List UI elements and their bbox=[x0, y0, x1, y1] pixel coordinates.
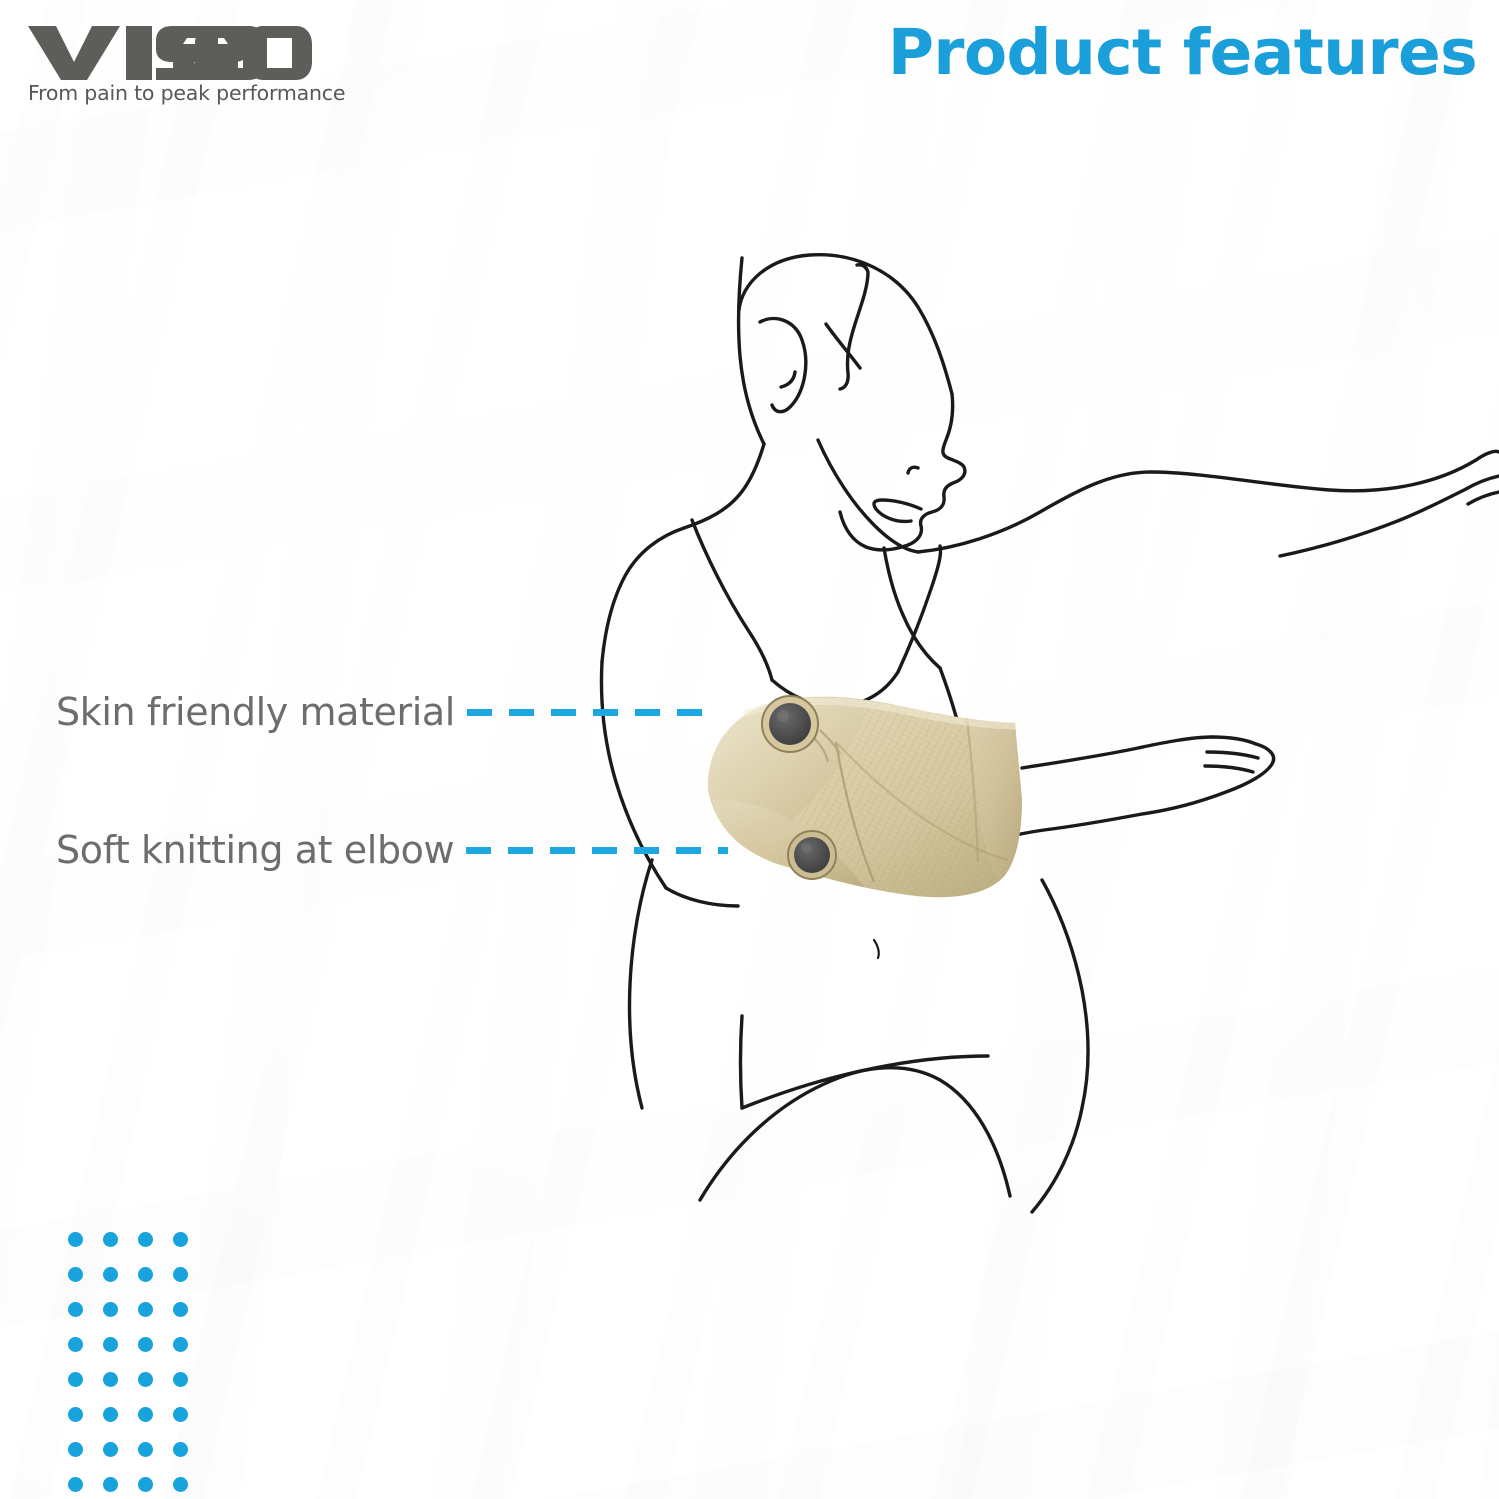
grid-dot bbox=[68, 1372, 83, 1387]
tank-strap-right bbox=[898, 546, 941, 672]
grid-dot bbox=[138, 1442, 153, 1457]
ear-inner bbox=[781, 372, 795, 387]
face-profile-outline bbox=[840, 394, 965, 550]
grid-dot bbox=[68, 1232, 83, 1247]
extended-arm-top-outline bbox=[918, 460, 1476, 552]
forearm-bottom-outline bbox=[1012, 814, 1142, 836]
grid-dot bbox=[173, 1232, 188, 1247]
leader-line-soft-knitting-at-elbow bbox=[466, 847, 728, 854]
grid-dot bbox=[68, 1302, 83, 1317]
product-features-slide: From pain to peak performance Product fe… bbox=[0, 0, 1499, 1499]
pointing-finger-1 bbox=[1466, 476, 1499, 489]
near-shoulder-outline bbox=[602, 528, 684, 662]
decorative-dot-grid bbox=[68, 1232, 208, 1499]
grid-dot bbox=[138, 1337, 153, 1352]
hip-line bbox=[741, 1016, 743, 1108]
grid-dot bbox=[68, 1477, 83, 1492]
lower-hand-back bbox=[1212, 737, 1256, 744]
hair-strand bbox=[826, 324, 860, 368]
grid-dot bbox=[103, 1477, 118, 1492]
grid-dot bbox=[103, 1302, 118, 1317]
mouth-line bbox=[874, 500, 921, 521]
upper-lip bbox=[908, 467, 918, 473]
elbow-bottom-crease bbox=[666, 888, 738, 906]
lower-hand-finger-2 bbox=[1205, 766, 1253, 772]
grid-dot bbox=[68, 1442, 83, 1457]
jaw-outline bbox=[818, 440, 918, 552]
grid-dot bbox=[173, 1337, 188, 1352]
forearm-top-outline bbox=[1022, 737, 1212, 768]
leader-line-skin-friendly-material bbox=[467, 709, 717, 716]
torso-right-outline bbox=[1032, 880, 1088, 1212]
grid-dot bbox=[138, 1267, 153, 1282]
grid-dot bbox=[138, 1302, 153, 1317]
grid-dot bbox=[103, 1442, 118, 1457]
callout-skin-friendly-material: Skin friendly material bbox=[56, 690, 717, 734]
grid-dot bbox=[68, 1407, 83, 1422]
grid-dot bbox=[173, 1372, 188, 1387]
navel-mark bbox=[874, 940, 879, 958]
callout-soft-knitting-at-elbow: Soft knitting at elbow bbox=[56, 828, 728, 872]
grid-dot bbox=[138, 1232, 153, 1247]
ear-outline bbox=[760, 319, 806, 412]
grid-dot bbox=[173, 1442, 188, 1457]
neck-front-line bbox=[884, 548, 940, 668]
grid-dot bbox=[173, 1267, 188, 1282]
neck-back-line bbox=[684, 444, 764, 528]
tank-strap-left bbox=[692, 520, 772, 680]
grid-dot bbox=[103, 1232, 118, 1247]
grid-dot bbox=[173, 1302, 188, 1317]
pointing-finger-2 bbox=[1468, 492, 1499, 504]
grid-dot bbox=[103, 1337, 118, 1352]
grid-dot bbox=[103, 1407, 118, 1422]
grid-dot bbox=[138, 1372, 153, 1387]
grid-dot bbox=[173, 1407, 188, 1422]
sleeve-eyelet-upper bbox=[762, 696, 818, 752]
back-of-head-outline bbox=[739, 258, 764, 444]
sleeve-eyelet-lower bbox=[788, 831, 836, 879]
lower-hand-finger-1 bbox=[1207, 752, 1258, 758]
hairline-outline bbox=[840, 265, 868, 389]
grid-dot bbox=[103, 1372, 118, 1387]
pointing-hand-top bbox=[1476, 451, 1499, 460]
person-with-elbow-support-illustration bbox=[0, 0, 1499, 1499]
extended-arm-bottom-outline bbox=[1280, 489, 1466, 556]
callout-label-skin-friendly-material: Skin friendly material bbox=[56, 690, 455, 734]
grid-dot bbox=[68, 1337, 83, 1352]
lower-hand-palm bbox=[1142, 744, 1274, 814]
grid-dot bbox=[173, 1477, 188, 1492]
grid-dot bbox=[68, 1267, 83, 1282]
grid-dot bbox=[138, 1407, 153, 1422]
grid-dot bbox=[138, 1477, 153, 1492]
elbow-support-product bbox=[700, 690, 1040, 910]
callout-label-soft-knitting-at-elbow: Soft knitting at elbow bbox=[56, 828, 454, 872]
torso-side-outline bbox=[630, 860, 653, 1108]
grid-dot bbox=[103, 1267, 118, 1282]
thigh-bottom-outline bbox=[700, 1068, 1010, 1200]
head-crown-outline bbox=[739, 255, 952, 394]
thigh-top-outline bbox=[742, 1056, 988, 1108]
